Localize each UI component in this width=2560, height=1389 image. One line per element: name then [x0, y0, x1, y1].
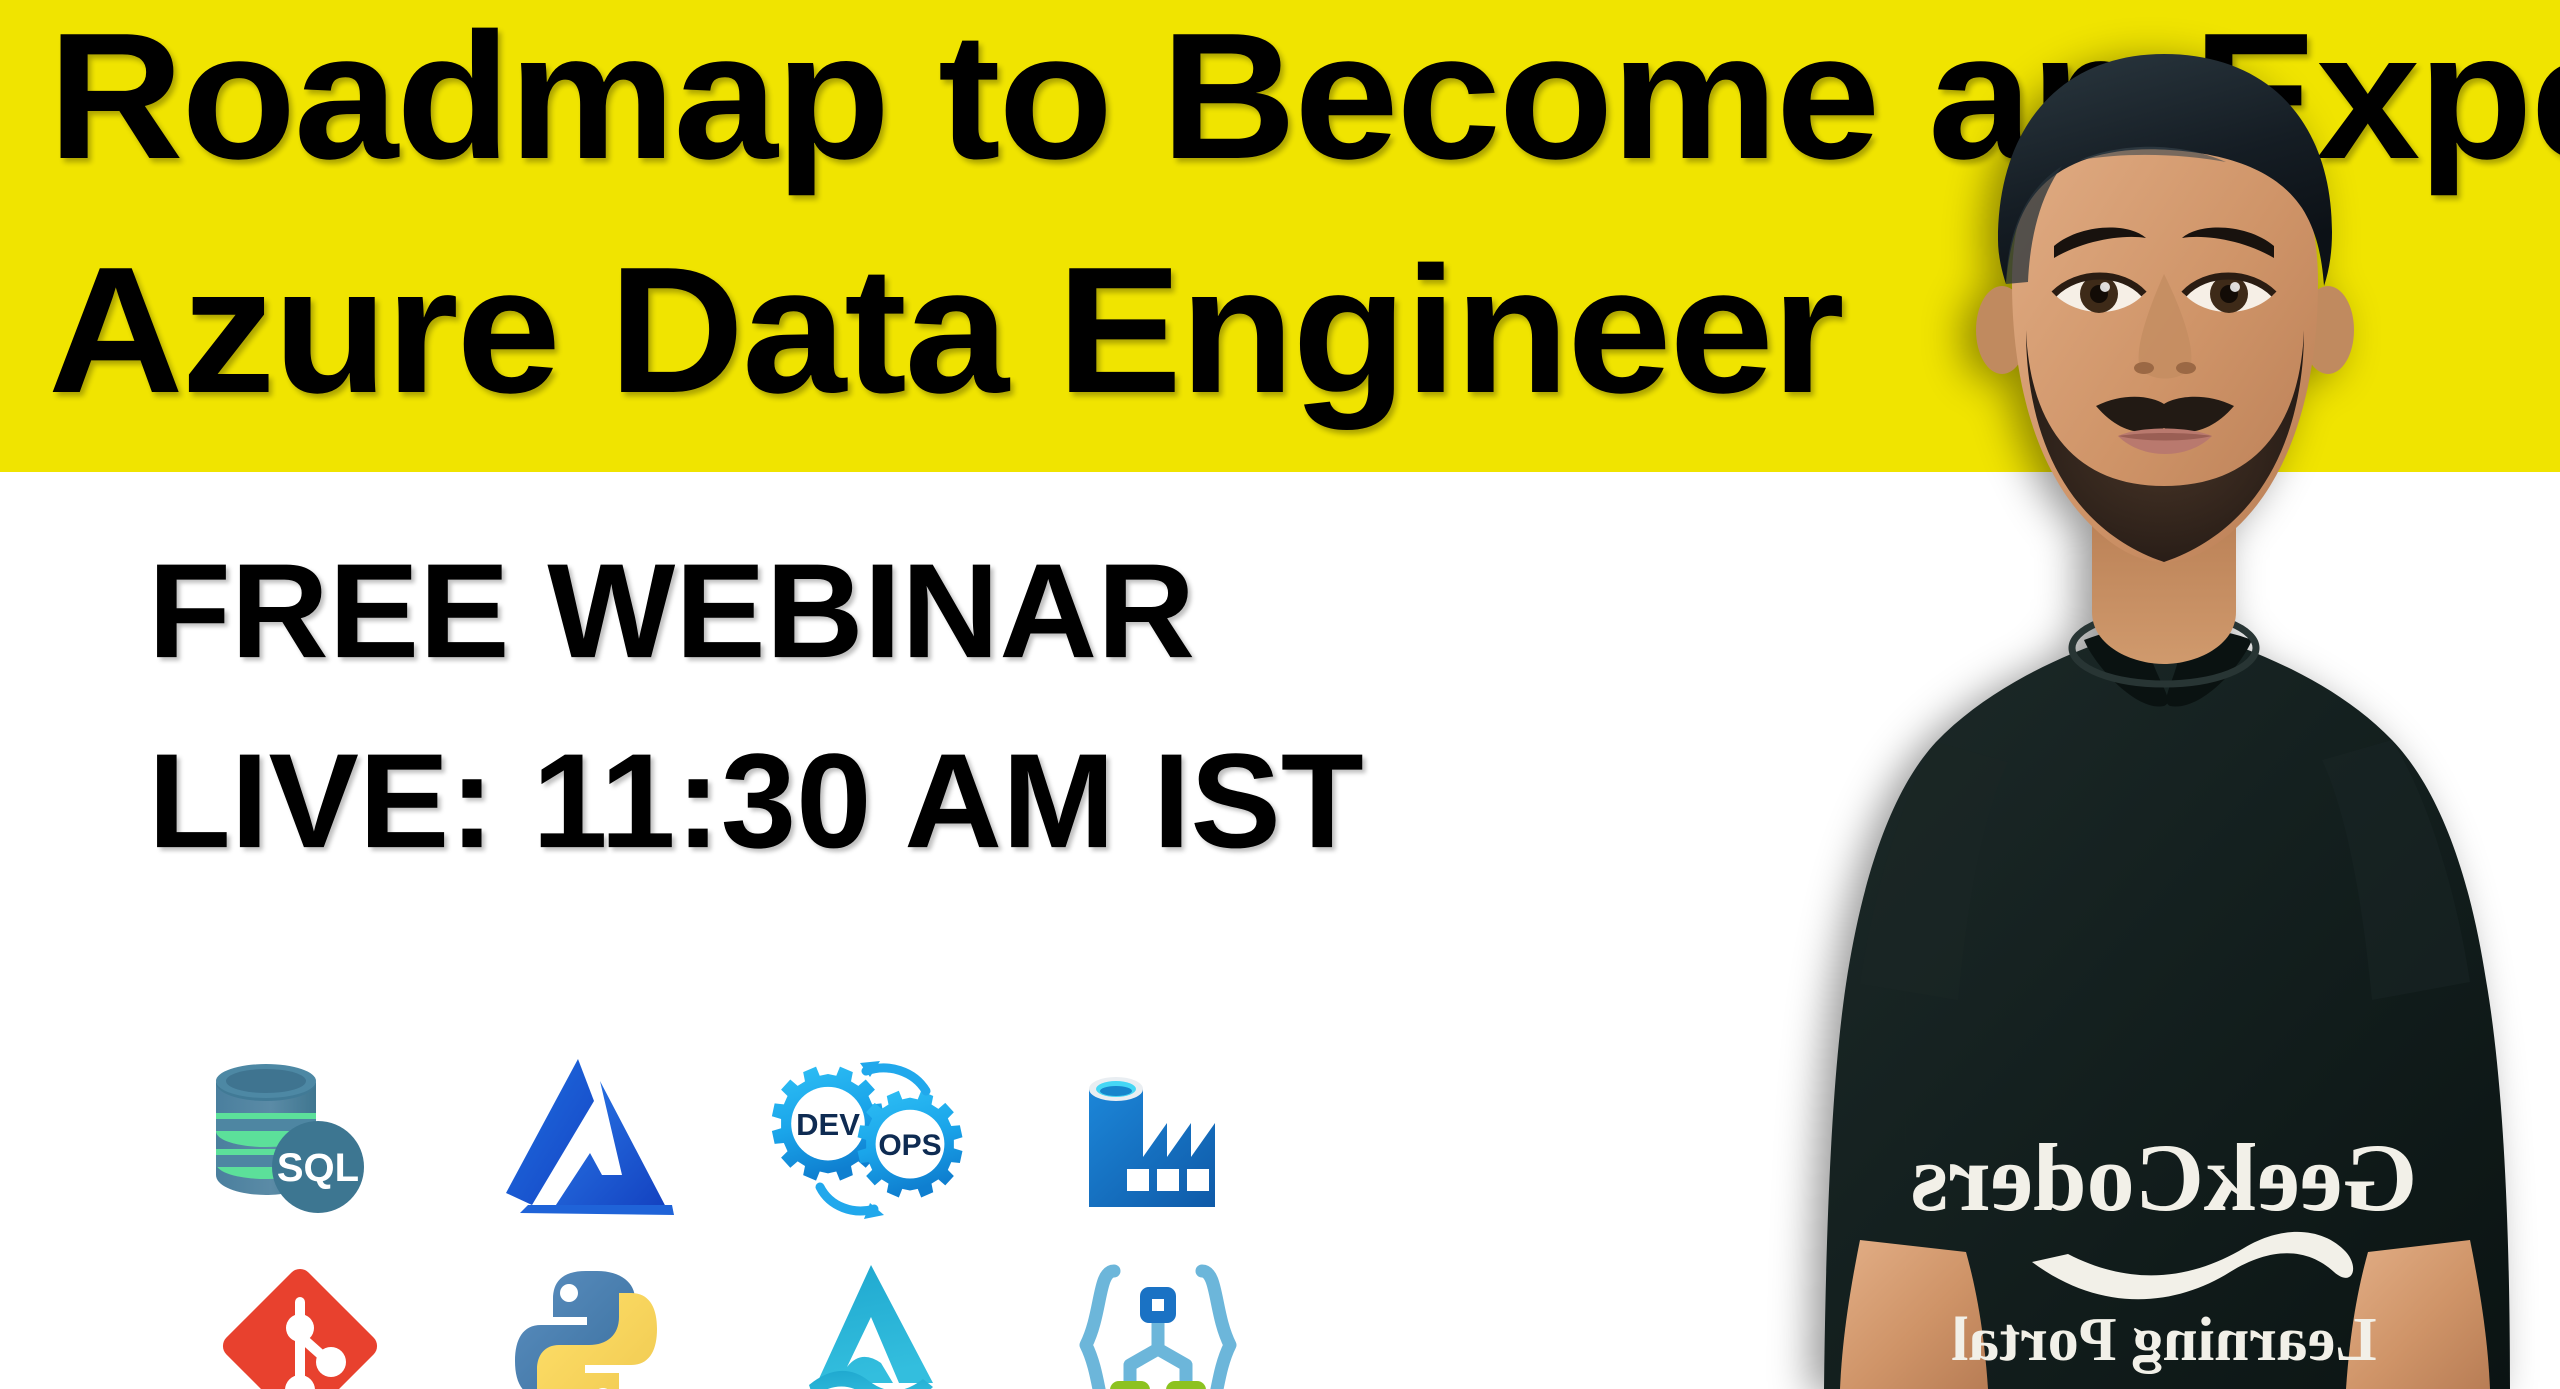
- devops-dev-label: DEV: [796, 1107, 860, 1142]
- tech-item-data-factory: [1028, 1047, 1288, 1237]
- tech-item-git: [170, 1245, 430, 1389]
- tech-stack-grid: SQL: [170, 1047, 1310, 1389]
- git-icon: [215, 1258, 385, 1389]
- azure-icon: [486, 1055, 686, 1230]
- page-title-line-2: Azure Data Engineer: [48, 240, 1842, 420]
- tech-item-azure: [456, 1047, 716, 1237]
- tech-item-python: [456, 1245, 716, 1389]
- presenter-photo: GeekCoders Learning Portal: [1740, 0, 2560, 1389]
- shirt-brand-text: GeekCoders: [1911, 1124, 2418, 1231]
- sql-badge-label: SQL: [277, 1146, 359, 1190]
- tech-item-devops: DEV OPS: [742, 1047, 1002, 1237]
- devops-gears-icon: DEV OPS: [762, 1055, 982, 1230]
- json-schema-icon: [1068, 1253, 1248, 1389]
- shirt-tagline-text: Learning Portal: [1951, 1306, 2376, 1374]
- delta-lake-icon: DELTA LAKE: [757, 1255, 987, 1389]
- presenter-figure: GeekCoders Learning Portal: [1740, 0, 2560, 1389]
- python-icon: [501, 1255, 671, 1389]
- devops-ops-label: OPS: [878, 1129, 941, 1162]
- free-webinar-headline: FREE WEBINAR: [148, 544, 1195, 678]
- tech-item-delta-lake: DELTA LAKE: [742, 1245, 1002, 1389]
- thumbnail-canvas: FREE WEBINAR LIVE: 11:30 AM IST: [0, 0, 2560, 1389]
- live-time-text: LIVE: 11:30 AM IST: [148, 734, 1364, 868]
- presenter-shirt: [1824, 612, 2510, 1389]
- tech-item-sql: SQL: [170, 1047, 430, 1237]
- sql-database-icon: SQL: [200, 1057, 400, 1227]
- tech-item-json-schema: [1028, 1245, 1288, 1389]
- azure-data-factory-icon: [1071, 1057, 1246, 1227]
